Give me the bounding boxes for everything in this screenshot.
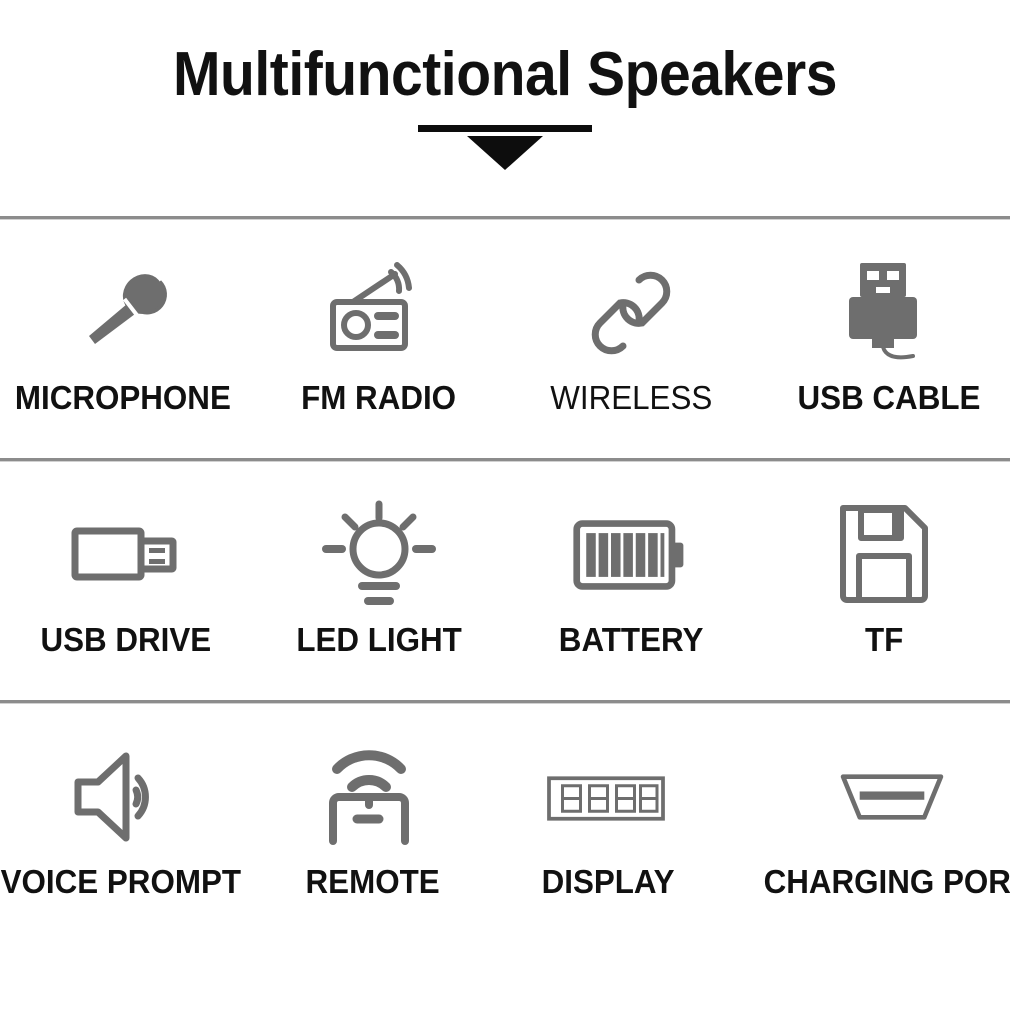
led-light-icon	[319, 495, 439, 615]
usb-drive-icon	[66, 495, 186, 615]
feature-label: LED LIGHT	[296, 621, 461, 659]
feature-cell-wireless[interactable]: WIRELESS	[505, 219, 758, 458]
charging-port-icon	[832, 737, 952, 857]
feature-cell-display[interactable]: DISPLAY	[491, 703, 729, 939]
feature-cell-microphone[interactable]: MICROPHONE	[0, 219, 253, 458]
title-underline-rule	[418, 125, 592, 132]
feature-cell-tf[interactable]: TF	[758, 461, 1010, 700]
digit-display-icon	[546, 737, 666, 857]
feature-label: TF	[865, 621, 903, 659]
feature-cell-remote[interactable]: REMOTE	[253, 703, 491, 939]
down-triangle-icon	[467, 136, 543, 170]
fm-radio-icon	[319, 253, 439, 373]
microphone-icon	[66, 253, 186, 373]
feature-label: WIRELESS	[550, 379, 712, 417]
feature-label: BATTERY	[559, 621, 704, 659]
feature-label: MICROPHONE	[14, 379, 230, 417]
feature-row-3: VOICE PROMPT REMOTE	[0, 703, 1010, 939]
feature-label: USB DRIVE	[41, 621, 212, 659]
feature-cell-voice-prompt[interactable]: VOICE PROMPT	[0, 703, 253, 939]
feature-cell-battery[interactable]: BATTERY	[505, 461, 758, 700]
battery-icon	[571, 495, 691, 615]
feature-cell-charging-port[interactable]: CHARGING PORT	[730, 703, 1010, 939]
feature-label: FM RADIO	[301, 379, 456, 417]
memory-card-icon	[824, 495, 944, 615]
feature-cell-led-light[interactable]: LED LIGHT	[253, 461, 506, 700]
remote-signal-icon	[312, 737, 432, 857]
feature-label: REMOTE	[305, 863, 439, 901]
feature-label: VOICE PROMPT	[1, 863, 241, 901]
usb-cable-icon	[824, 253, 944, 373]
chain-link-icon	[571, 253, 691, 373]
feature-cell-usb-drive[interactable]: USB DRIVE	[0, 461, 253, 700]
page-title: Multifunctional Speakers	[40, 44, 969, 106]
header: Multifunctional Speakers	[0, 0, 1010, 216]
feature-cell-fm-radio[interactable]: FM RADIO	[253, 219, 506, 458]
feature-label: DISPLAY	[542, 863, 675, 901]
speaker-icon	[67, 737, 187, 857]
feature-label: USB CABLE	[798, 379, 981, 417]
feature-cell-usb-cable[interactable]: USB CABLE	[758, 219, 1010, 458]
feature-row-1: MICROPHONE FM RADIO	[0, 219, 1010, 458]
feature-row-2: USB DRIVE LED LIGHT	[0, 461, 1010, 700]
feature-label: CHARGING PORT	[763, 863, 1010, 901]
